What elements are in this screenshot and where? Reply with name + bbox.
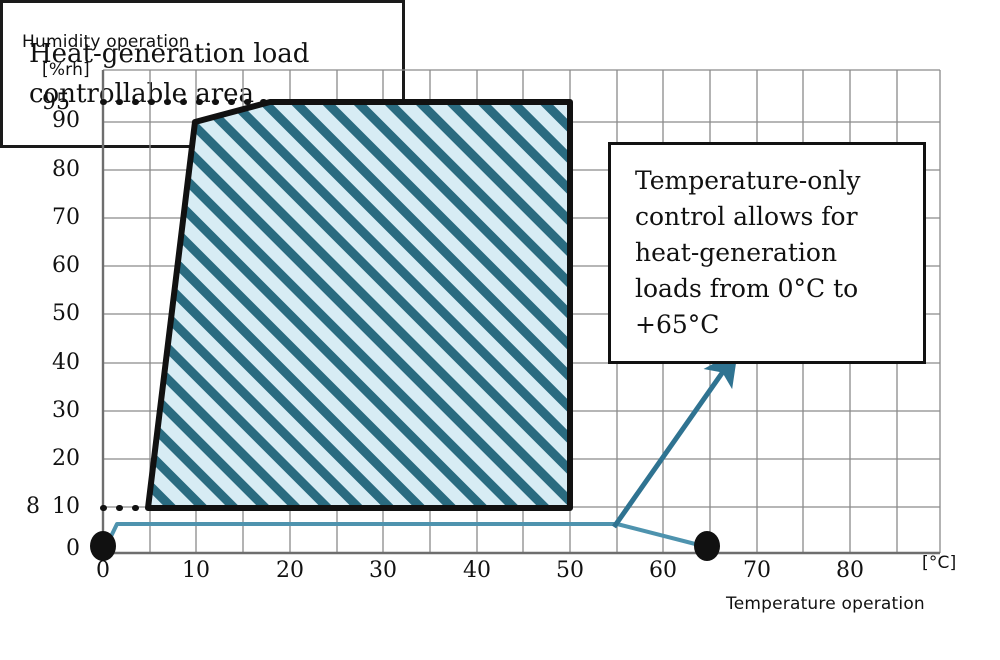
x-tick-70: 70: [737, 558, 777, 583]
marker-65c: [694, 531, 720, 561]
x-tick-10: 10: [176, 558, 216, 583]
x-tick-0: 0: [83, 558, 123, 583]
x-tick-60: 60: [643, 558, 683, 583]
y-axis-title: Humidity operation: [22, 32, 190, 52]
y-tick-40: 40: [38, 350, 80, 375]
y-tick-70: 70: [38, 205, 80, 230]
y-tick-10: 10: [38, 494, 80, 519]
x-axis-title: Temperature operation: [726, 594, 925, 614]
y-tick-90: 90: [38, 108, 80, 133]
y-tick-30: 30: [38, 398, 80, 423]
y-tick-50: 50: [38, 301, 80, 326]
callout-line2: control allows for: [635, 199, 923, 235]
y-tick-0: 0: [38, 536, 80, 561]
callout-line3: heat-generation: [635, 235, 923, 271]
x-tick-40: 40: [457, 558, 497, 583]
y-tick-60: 60: [38, 253, 80, 278]
y-tick-8: 8: [18, 494, 40, 519]
marker-0c: [90, 531, 116, 561]
callout-line1: Temperature-only: [635, 163, 923, 199]
x-tick-20: 20: [270, 558, 310, 583]
x-tick-50: 50: [550, 558, 590, 583]
callout-line5: +65°C: [635, 307, 923, 343]
y-axis-unit: [%rh]: [42, 60, 90, 80]
callout-box: Temperature-only control allows for heat…: [608, 142, 926, 364]
x-axis-unit: [°C]: [922, 553, 956, 573]
y-tick-20: 20: [38, 446, 80, 471]
chart-figure: Humidity operation [%rh] 95 90 80 70 60 …: [0, 0, 1000, 660]
x-tick-80: 80: [830, 558, 870, 583]
y-tick-80: 80: [38, 157, 80, 182]
controllable-area-polygon: [148, 102, 570, 508]
x-tick-30: 30: [363, 558, 403, 583]
callout-line4: loads from 0°C to: [635, 271, 923, 307]
